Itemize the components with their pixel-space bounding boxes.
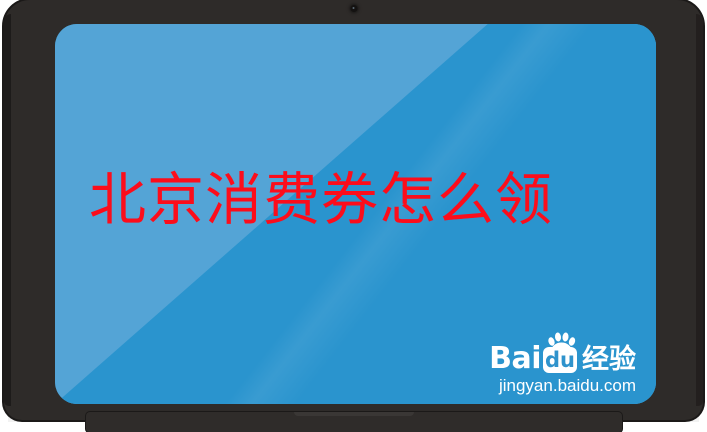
laptop-lid: 北京消费券怎么领 Bai du bbox=[4, 0, 703, 420]
page-title: 北京消费券怎么领 bbox=[89, 172, 623, 229]
watermark-url: jingyan.baidu.com bbox=[489, 376, 636, 396]
watermark-brand-prefix: Bai bbox=[489, 345, 541, 373]
webcam-dot-icon bbox=[350, 5, 357, 12]
laptop-screen: 北京消费券怎么领 Bai du bbox=[55, 24, 656, 404]
laptop-illustration: 北京消费券怎么领 Bai du bbox=[0, 0, 707, 432]
watermark-brand-row: Bai du 经验 bbox=[489, 343, 636, 373]
lid-edge-left bbox=[4, 14, 11, 406]
watermark-brand-badge-text: du bbox=[543, 347, 577, 373]
lid-edge-right bbox=[696, 14, 703, 406]
watermark-badge: du bbox=[543, 343, 577, 373]
laptop-base-notch bbox=[294, 412, 414, 416]
baidu-jingyan-watermark: Bai du 经验 ji bbox=[489, 343, 636, 396]
watermark-brand-suffix: 经验 bbox=[582, 346, 636, 373]
laptop-base bbox=[86, 412, 622, 432]
screenshot-canvas: 北京消费券怎么领 Bai du bbox=[0, 0, 707, 432]
